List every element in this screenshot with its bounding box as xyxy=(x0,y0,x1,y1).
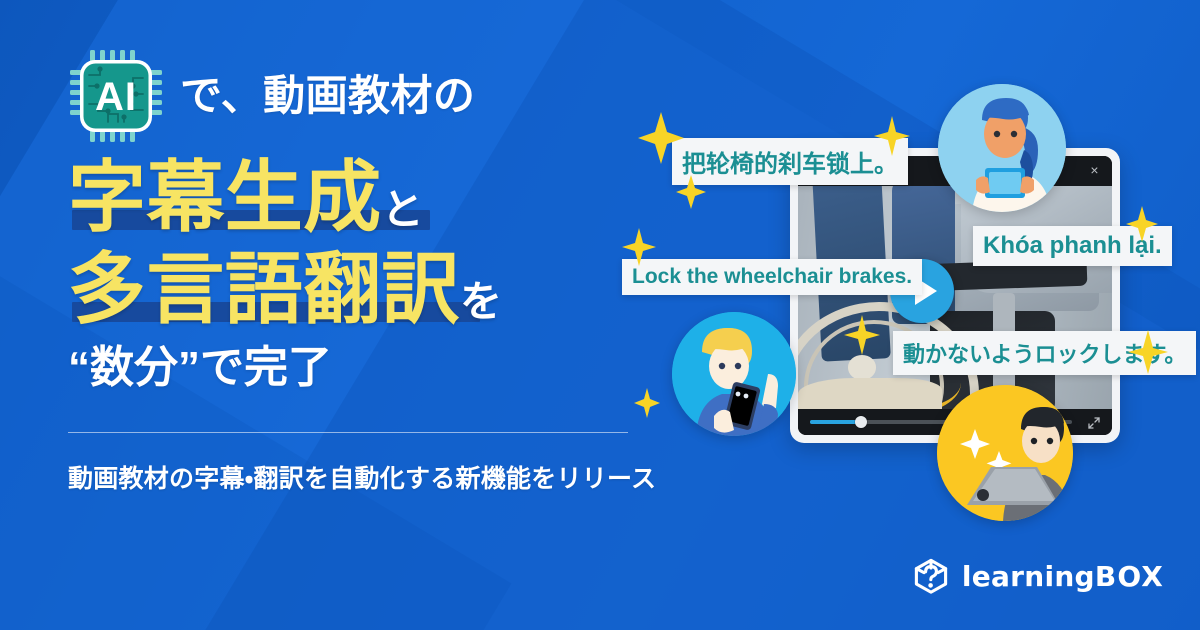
headline-line-1: 字幕生成と xyxy=(68,158,668,236)
progress-fill xyxy=(810,420,860,424)
sparkle-icon xyxy=(676,175,706,209)
logo-text-secondary: BOX xyxy=(1095,560,1164,593)
headline-divider xyxy=(68,432,628,433)
sparkle-icon xyxy=(844,315,880,355)
headline-highlight-2: 多言語翻訳 xyxy=(68,245,460,333)
headline-tail-2: を xyxy=(460,278,502,325)
progress-handle[interactable] xyxy=(855,416,867,428)
avatar-person-with-phone xyxy=(672,312,796,436)
fullscreen-icon[interactable] xyxy=(1088,416,1100,428)
video-player-screen: × xyxy=(798,156,1112,435)
avatar-person-with-tablet xyxy=(938,84,1066,212)
headline-line-2: 多言語翻訳を xyxy=(68,250,668,328)
sparkle-icon xyxy=(874,116,910,156)
headline-line-3: “数分”で完了 xyxy=(68,346,668,390)
logo-text-primary: learning xyxy=(962,560,1095,593)
sparkle-icon xyxy=(638,112,684,164)
cube-icon xyxy=(913,558,949,594)
sparkle-icon xyxy=(1126,206,1158,242)
banner-root: AI で、動画教材の 字幕生成と 多言語翻訳を “数分”で完了 動画教材の字幕・… xyxy=(0,0,1200,630)
visual-block: × xyxy=(600,0,1200,630)
learningbox-logo[interactable]: learningBOX xyxy=(913,558,1164,594)
svg-text:AI: AI xyxy=(95,75,137,119)
close-icon[interactable]: × xyxy=(1087,163,1102,178)
headline-block: AI で、動画教材の 字幕生成と 多言語翻訳を “数分”で完了 動画教材の字幕・… xyxy=(68,48,668,495)
headline-tail-1: と xyxy=(382,186,424,233)
ai-lead-row: AI で、動画教材の xyxy=(68,48,668,144)
caption-chinese: 把轮椅的刹车锁上。 xyxy=(672,138,908,185)
logo-wordmark: learningBOX xyxy=(962,560,1164,593)
video-thumbnail-wheelchair xyxy=(798,186,1112,409)
ai-chip-icon: AI xyxy=(68,48,164,144)
caption-english: Lock the wheelchair brakes. xyxy=(622,259,922,295)
headline-highlight-1: 字幕生成 xyxy=(68,153,382,241)
headline-lead: で、動画教材の xyxy=(180,75,475,117)
sparkle-icon xyxy=(634,388,660,418)
banner-subtitle: 動画教材の字幕・翻訳を自動化する新機能をリリース xyxy=(68,459,668,495)
sparkle-icon xyxy=(1128,330,1168,374)
avatar-person-with-laptop xyxy=(937,385,1073,521)
sparkle-icon xyxy=(622,228,656,266)
